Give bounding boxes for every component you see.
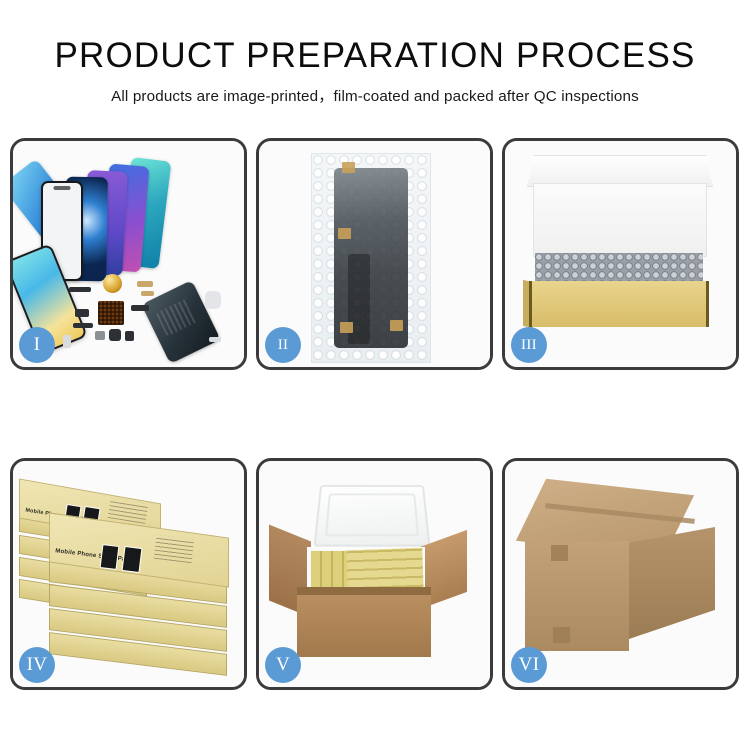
part-strip-2: [137, 281, 153, 287]
step-badge-1: I: [19, 327, 55, 363]
box-screen-img-f1: [100, 544, 120, 570]
carton-tape-top: [551, 545, 568, 561]
page-header: PRODUCT PREPARATION PROCESS All products…: [0, 0, 750, 106]
tape-piece-1: [342, 162, 355, 173]
step-panel-1[interactable]: I: [10, 138, 247, 370]
step-panel-4[interactable]: Mobile Phone Spare Parts Mobile Phone Sp…: [10, 458, 247, 690]
process-step-grid: I II III: [10, 138, 740, 690]
carton-side-face: [629, 527, 715, 639]
part-chip-1: [95, 331, 105, 340]
tape-piece-2: [338, 228, 351, 239]
step-badge-6: VI: [511, 647, 547, 683]
tape-piece-3: [340, 322, 353, 333]
step-panel-6[interactable]: VI: [502, 458, 739, 690]
box-front-panel: [529, 281, 709, 327]
box-spec-lines-front: [154, 535, 195, 563]
foam-sheet: [533, 183, 707, 257]
page-title: PRODUCT PREPARATION PROCESS: [0, 38, 750, 75]
carton-tape-bottom: [553, 627, 570, 643]
part-chip-3: [125, 331, 134, 341]
part-flex-1: [131, 305, 149, 311]
part-flex-3: [73, 323, 93, 328]
step-badge-5: V: [265, 647, 301, 683]
tape-piece-4: [390, 320, 403, 331]
part-chip-2: [109, 329, 121, 341]
step-panel-5[interactable]: V: [256, 458, 493, 690]
part-strip-1: [69, 287, 91, 292]
carton-front-panel: [297, 595, 431, 657]
step-badge-4: IV: [19, 647, 55, 683]
step-panel-3[interactable]: III: [502, 138, 739, 370]
step-badge-2: II: [265, 327, 301, 363]
foam-box-lid: [313, 485, 430, 546]
copper-grid-component: [98, 301, 124, 325]
part-button-1: [63, 335, 71, 348]
page-subtitle: All products are image-printed，film-coat…: [0, 84, 750, 106]
step-badge-3: III: [511, 327, 547, 363]
part-strip-3: [141, 291, 154, 296]
carton-front-face: [525, 541, 629, 651]
part-flex-2: [75, 309, 89, 317]
bubble-wrap-bag: [311, 153, 431, 363]
speaker-component: [103, 274, 122, 293]
bubble-wrap-layer: [535, 253, 703, 283]
part-tool: [205, 291, 221, 309]
box-screen-img-f2: [122, 546, 143, 573]
part-screw-set: [209, 337, 221, 342]
step-panel-2[interactable]: II: [256, 138, 493, 370]
notch-shape: [54, 186, 71, 190]
